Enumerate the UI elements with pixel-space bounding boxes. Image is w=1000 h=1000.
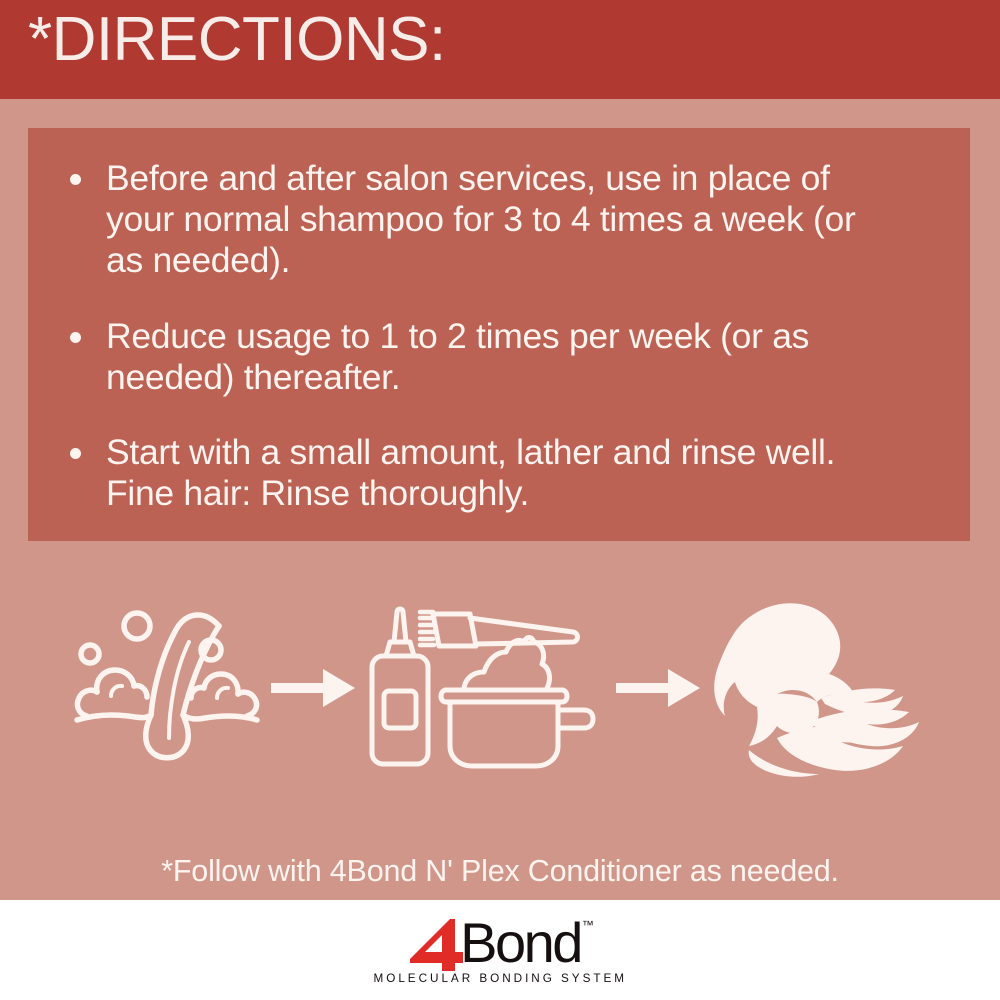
step-icon-row: [0, 588, 1000, 788]
list-item: Before and after salon services, use in …: [61, 158, 930, 282]
list-item: Reduce usage to 1 to 2 times per week (o…: [61, 316, 930, 398]
bullet-dot-icon: [70, 448, 81, 459]
logo-trademark-icon: ™: [582, 919, 594, 931]
step-arrow-1-cell: [265, 658, 360, 718]
logo-tagline: MOLECULAR BONDING SYSTEM: [373, 973, 627, 985]
footnote-text: *Follow with 4Bond N' Plex Conditioner a…: [0, 854, 1000, 889]
hair-follicle-foam-icon: [65, 598, 265, 778]
brand-logo: Bond ™ MOLECULAR BONDING SYSTEM: [0, 900, 1000, 1000]
step-arrow-2-cell: [610, 658, 705, 718]
list-item: Start with a small amount, lather and ri…: [61, 432, 930, 514]
arrow-right-icon: [271, 666, 355, 710]
logo-main: Bond ™: [406, 915, 594, 971]
header-bar: *DIRECTIONS:: [0, 0, 1000, 99]
list-item-text: Before and after salon services, use in …: [106, 158, 876, 282]
applicator-bottle-brush-bowl-icon: [360, 598, 610, 778]
logo-wordmark: Bond: [460, 915, 581, 971]
bullet-dot-icon: [70, 174, 81, 185]
page-title: *DIRECTIONS:: [28, 9, 446, 71]
logo-numeral-4-icon: [406, 919, 464, 971]
step-3-cell: [705, 598, 935, 778]
woman-flowing-hair-icon: [705, 598, 935, 778]
directions-panel: Before and after salon services, use in …: [28, 128, 970, 541]
step-2-cell: [360, 598, 610, 778]
directions-list: Before and after salon services, use in …: [61, 158, 930, 514]
list-item-text: Start with a small amount, lather and ri…: [106, 432, 876, 514]
bullet-dot-icon: [70, 332, 81, 343]
directions-poster: *DIRECTIONS: Before and after salon serv…: [0, 0, 1000, 1000]
step-1-cell: [65, 598, 265, 778]
list-item-text: Reduce usage to 1 to 2 times per week (o…: [106, 316, 876, 398]
arrow-right-icon: [616, 666, 700, 710]
footer-strip: Bond ™ MOLECULAR BONDING SYSTEM: [0, 900, 1000, 1000]
